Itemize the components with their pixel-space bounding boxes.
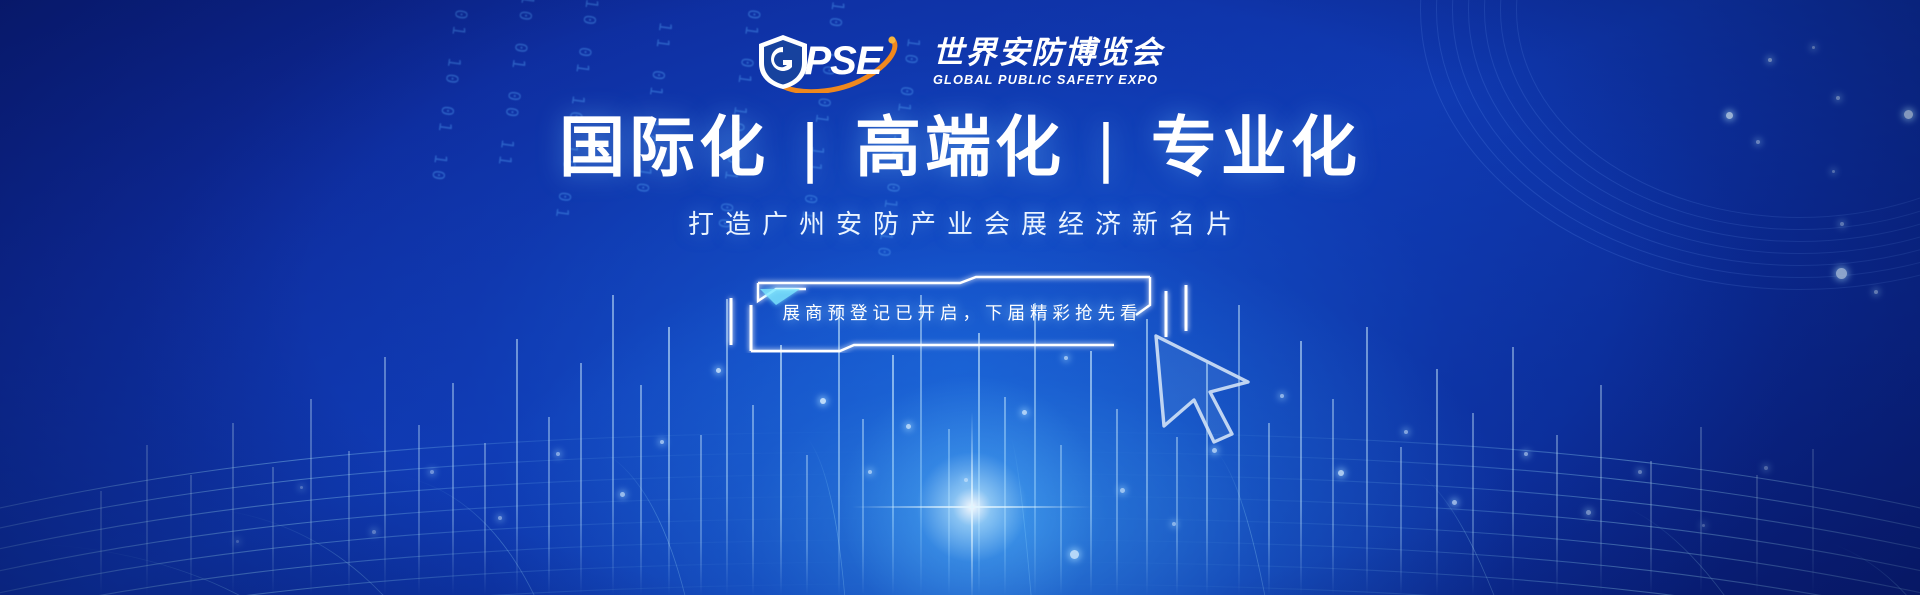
headline-part-2: 高端化 bbox=[855, 110, 1065, 184]
headline-part-3: 专业化 bbox=[1151, 110, 1361, 184]
page-title: 国际化 | 高端化 | 专业化 bbox=[559, 113, 1361, 182]
brand-name-cn: 世界安防博览会 bbox=[933, 37, 1164, 70]
brand-logo: PSE 世界安防博览会 GLOBAL PUBLIC SAFETY EXPO bbox=[757, 33, 1164, 91]
headline-separator: | bbox=[792, 110, 833, 184]
cta-label: 展商预登记已开启，下届精彩抢先看 bbox=[714, 271, 1206, 353]
headline-part-1: 国际化 bbox=[559, 110, 769, 184]
banner-content: PSE 世界安防博览会 GLOBAL PUBLIC SAFETY EXPO 国际… bbox=[0, 0, 1920, 595]
psd-expo-hero-banner: 10 01 10 01 10 01 10 01 00 11 10 01 10 1… bbox=[0, 0, 1920, 595]
headline-separator: | bbox=[1087, 110, 1128, 184]
registration-cta-button[interactable]: 展商预登记已开启，下届精彩抢先看 bbox=[714, 271, 1206, 353]
logo-letters: PSE bbox=[805, 41, 882, 81]
page-subtitle: 打造广州安防产业会展经济新名片 bbox=[677, 204, 1243, 241]
brand-name-en: GLOBAL PUBLIC SAFETY EXPO bbox=[933, 73, 1169, 87]
gpse-shield-icon: PSE bbox=[757, 33, 935, 91]
